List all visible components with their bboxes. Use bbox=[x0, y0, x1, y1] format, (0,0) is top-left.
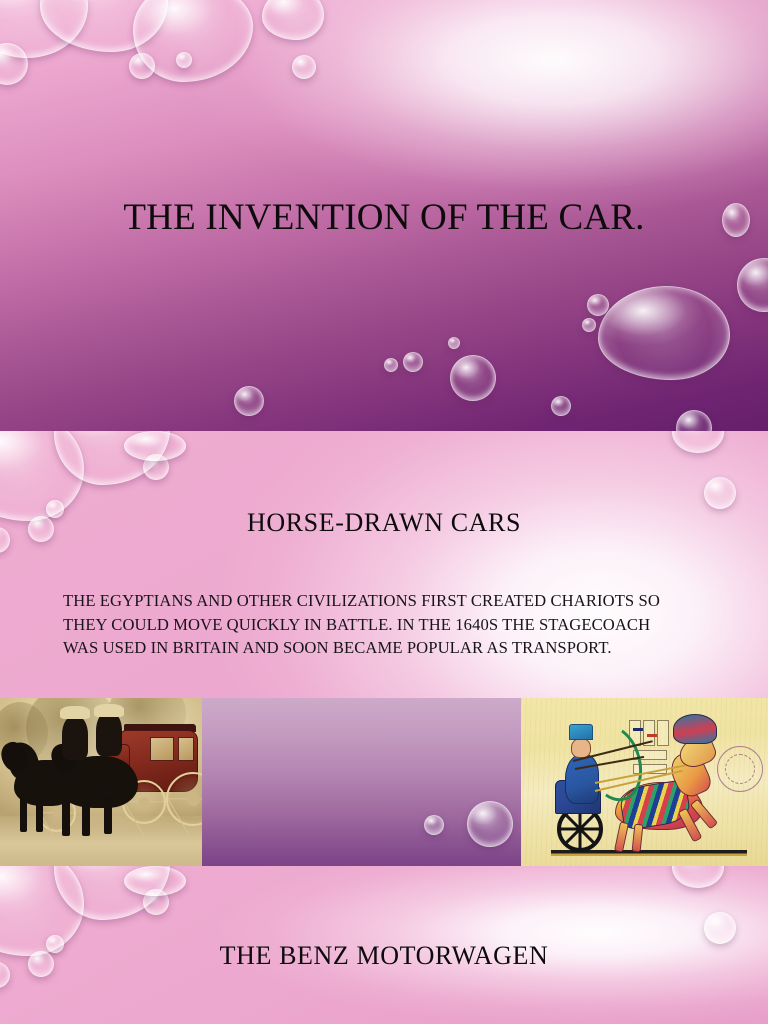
bubble-decoration bbox=[384, 358, 398, 372]
driver-hat bbox=[94, 704, 124, 717]
slide-3-title: THE BENZ MOTORWAGEN bbox=[0, 940, 768, 972]
stagecoach-photo[interactable] bbox=[0, 698, 202, 866]
slide-1-title: THE INVENTION OF THE CAR. bbox=[0, 196, 768, 240]
coach-window bbox=[178, 737, 194, 761]
slide-deck-page: THE INVENTION OF THE CAR. HORSE-DRAWN CA… bbox=[0, 0, 768, 1024]
bubble-decoration bbox=[704, 477, 736, 509]
driver-figure bbox=[62, 716, 88, 760]
ground bbox=[0, 816, 202, 866]
hieroglyph-box bbox=[657, 720, 669, 746]
slide-3: THE BENZ MOTORWAGEN bbox=[0, 866, 768, 1024]
horse-leg bbox=[62, 798, 70, 836]
slide-1: THE INVENTION OF THE CAR. bbox=[0, 0, 768, 431]
bubble-decoration bbox=[234, 386, 264, 416]
bubble-decoration bbox=[582, 318, 596, 332]
horse-leg bbox=[20, 798, 27, 832]
horse-leg bbox=[82, 800, 90, 836]
bubble-decoration bbox=[124, 431, 186, 461]
slide-2-body-text: THE EGYPTIANS AND OTHER CIVILIZATIONS FI… bbox=[63, 589, 688, 660]
bubble-decoration bbox=[176, 52, 192, 68]
bubble-decoration bbox=[598, 286, 730, 380]
bubble-decoration bbox=[403, 352, 423, 372]
bubble-decoration bbox=[467, 801, 513, 847]
bubble-decoration bbox=[129, 53, 155, 79]
bubble-decoration bbox=[551, 396, 571, 416]
postmark-inner-circle bbox=[725, 754, 755, 784]
slide-2: HORSE-DRAWN CARS THE EGYPTIANS AND OTHER… bbox=[0, 431, 768, 866]
driver-figure bbox=[96, 712, 122, 756]
bubble-decoration bbox=[124, 866, 186, 896]
egyptian-chariot-papyrus[interactable] bbox=[521, 698, 768, 866]
bubble-decoration bbox=[424, 815, 444, 835]
horse-leg bbox=[104, 796, 112, 834]
bubble-decoration bbox=[587, 294, 609, 316]
bubble-decoration bbox=[450, 355, 496, 401]
bubble-decoration bbox=[448, 337, 460, 349]
hieroglyph-mark bbox=[647, 734, 657, 737]
slide-2-title: HORSE-DRAWN CARS bbox=[0, 507, 768, 539]
coach-window bbox=[150, 737, 174, 761]
bubble-decoration bbox=[292, 55, 316, 79]
hieroglyph-mark bbox=[633, 728, 643, 731]
driver-hat bbox=[60, 706, 90, 719]
horse-leg bbox=[36, 800, 43, 832]
horse-plume bbox=[673, 714, 717, 744]
